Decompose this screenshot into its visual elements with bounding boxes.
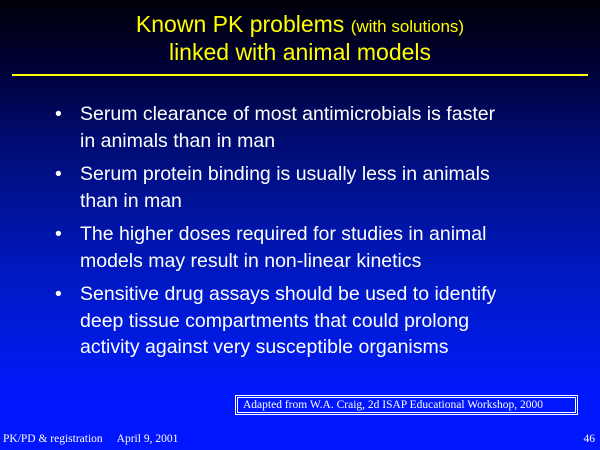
bullet-line: than in man [80,188,582,215]
title-line-1: Known PK problems (with solutions) [0,10,600,38]
bullet-line: Serum protein binding is usually less in… [80,161,582,188]
slide-number: 46 [584,433,596,445]
bullet-line: in animals than in man [80,128,582,155]
title-divider-rule [12,74,588,76]
list-item: • Serum clearance of most antimicrobials… [52,101,582,154]
footer-date: April 9, 2001 [117,433,179,445]
bullet-marker-icon: • [55,161,62,188]
bullet-marker-icon: • [55,101,62,128]
bullet-line: The higher doses required for studies in… [80,221,582,248]
bullet-line: Sensitive drug assays should be used to … [80,281,582,308]
slide-footer: PK/PD & registrationApril 9, 2001 [3,433,178,445]
bullet-line: Serum clearance of most antimicrobials i… [80,101,582,128]
bullet-line: activity against very susceptible organi… [80,334,582,361]
citation-box: Adapted from W.A. Craig, 2d ISAP Educati… [235,395,578,415]
bullet-marker-icon: • [55,281,62,308]
footer-presentation-title: PK/PD & registration [3,433,103,445]
bullet-line: deep tissue compartments that could prol… [80,308,582,335]
bullet-list: • Serum clearance of most antimicrobials… [52,101,582,368]
title-line-2: linked with animal models [0,38,600,66]
list-item: • Serum protein binding is usually less … [52,161,582,214]
bullet-line: models may result in non-linear kinetics [80,248,582,275]
bullet-marker-icon: • [55,221,62,248]
citation-box-inner-frame: Adapted from W.A. Craig, 2d ISAP Educati… [237,397,576,413]
citation-text: Adapted from W.A. Craig, 2d ISAP Educati… [243,399,543,411]
list-item: • The higher doses required for studies … [52,221,582,274]
title-parenthetical-text: (with solutions) [351,17,464,36]
list-item: • Sensitive drug assays should be used t… [52,281,582,361]
slide-title: Known PK problems (with solutions) linke… [0,10,600,66]
presentation-slide: Known PK problems (with solutions) linke… [0,0,600,450]
title-main-text: Known PK problems [136,11,344,37]
